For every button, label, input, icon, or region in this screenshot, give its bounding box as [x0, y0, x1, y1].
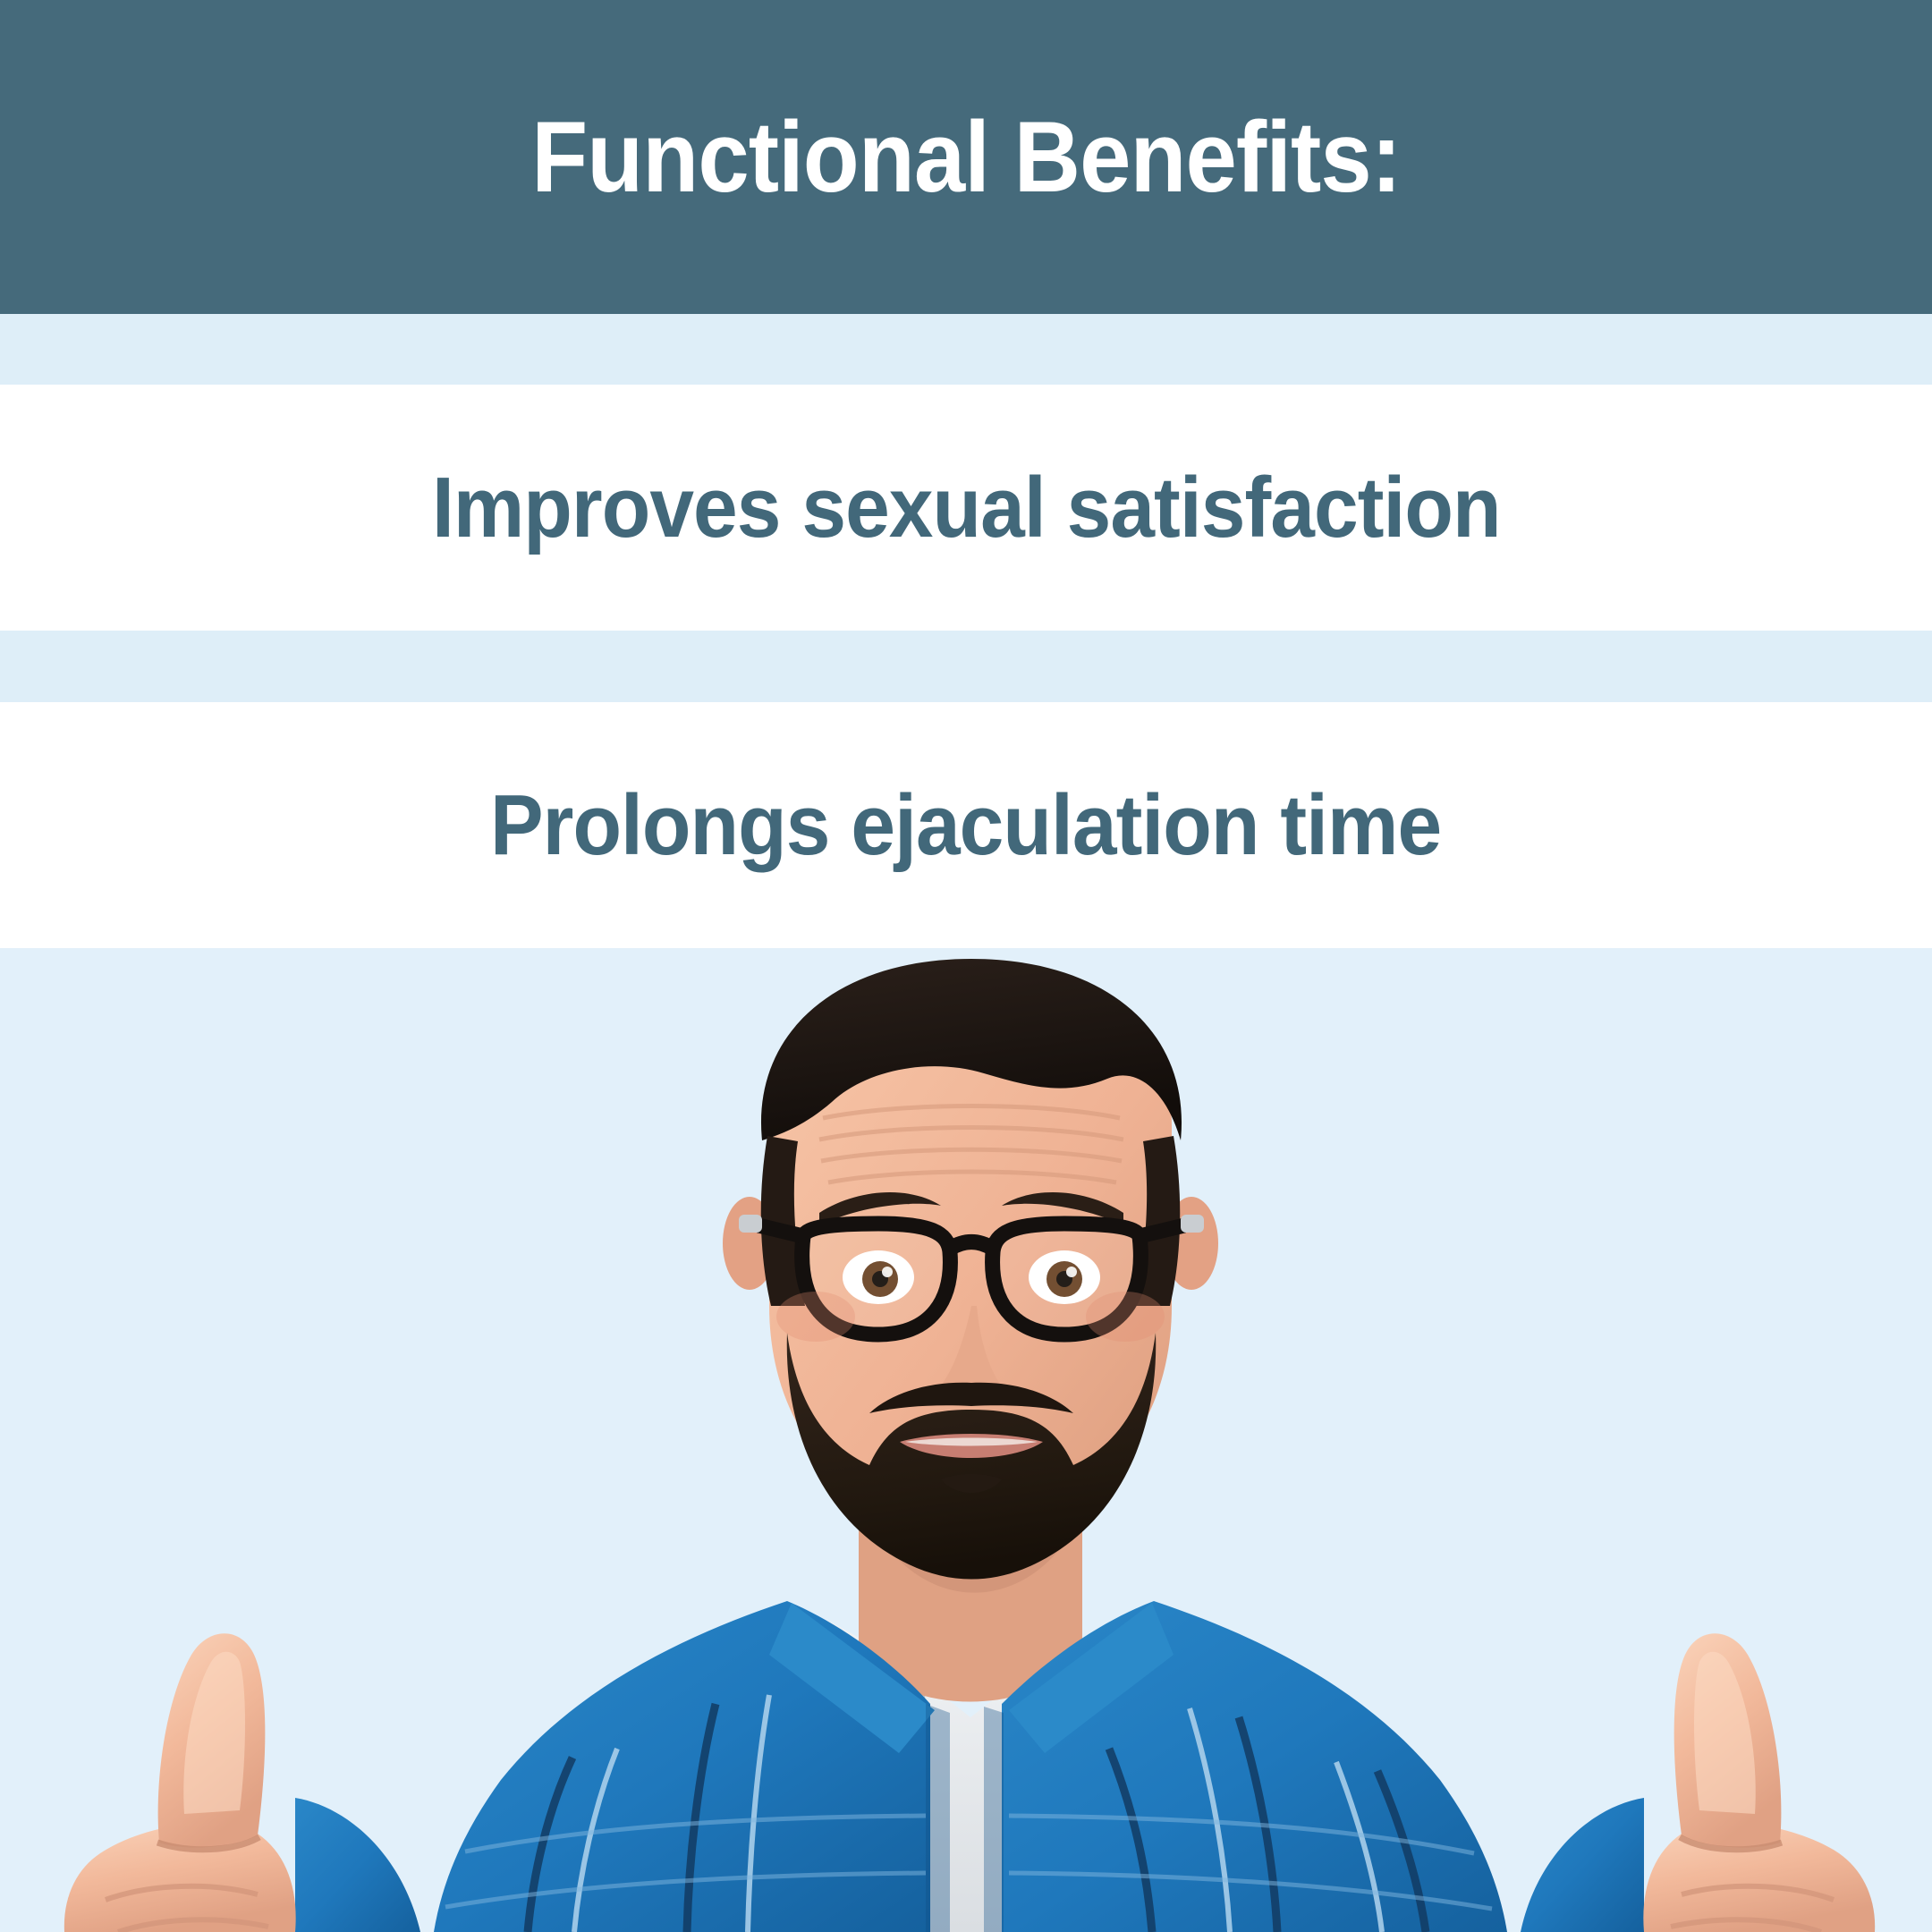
page-title: Functional Benefits:	[531, 107, 1401, 208]
poster-canvas: Functional Benefits: Improves sexual sat…	[0, 0, 1932, 1932]
benefit-label-1: Improves sexual satisfaction	[432, 465, 1501, 551]
header-bar: Functional Benefits:	[0, 0, 1932, 314]
benefit-row-1: Improves sexual satisfaction	[0, 385, 1932, 631]
benefit-row-2: Prolongs ejaculation time	[0, 702, 1932, 948]
band-tint-middle	[0, 631, 1932, 702]
hero-photo	[0, 948, 1932, 1932]
band-tint-top	[0, 314, 1932, 385]
benefit-label-2: Prolongs ejaculation time	[490, 783, 1441, 869]
man-thumbs-up-illustration	[0, 948, 1932, 1932]
